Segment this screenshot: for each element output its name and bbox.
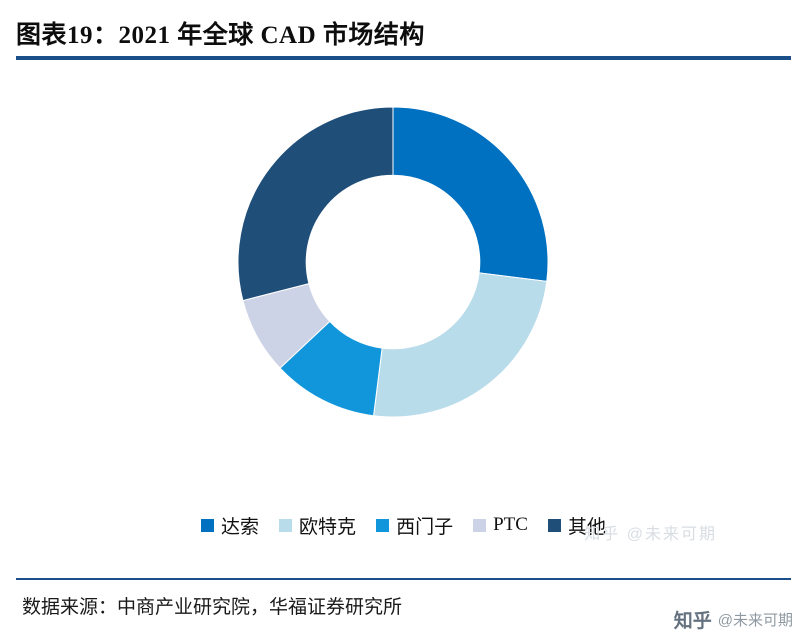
title-divider xyxy=(16,56,791,60)
legend-swatch-others xyxy=(548,519,561,532)
zhihu-username: @未来可期 xyxy=(718,609,793,630)
zhihu-logo: 知乎 xyxy=(674,606,712,633)
page-title: 图表19：2021 年全球 CAD 市场结构 xyxy=(16,12,791,54)
donut-slice-1[interactable] xyxy=(393,107,548,281)
legend-item-autodesk[interactable]: 欧特克 xyxy=(279,512,356,539)
legend-label-dassault: 达索 xyxy=(221,512,259,539)
footer-divider xyxy=(16,578,791,580)
legend-label-autodesk: 欧特克 xyxy=(299,512,356,539)
donut-chart xyxy=(233,102,553,422)
legend-swatch-siemens xyxy=(376,519,389,532)
legend-label-siemens: 西门子 xyxy=(396,512,453,539)
donut-svg xyxy=(233,102,553,422)
donut-slice-5[interactable] xyxy=(238,107,393,301)
chart-page: 图表19：2021 年全球 CAD 市场结构 达索 欧特克 西门子 PTC 其他 xyxy=(0,0,807,643)
chart-area xyxy=(16,62,791,502)
legend-item-dassault[interactable]: 达索 xyxy=(201,512,259,539)
chart-legend: 达索 欧特克 西门子 PTC 其他 xyxy=(16,508,791,542)
legend-swatch-dassault xyxy=(201,519,214,532)
donut-slice-group xyxy=(238,107,548,417)
source-note: 数据来源：中商产业研究院，华福证券研究所 xyxy=(22,592,402,619)
legend-swatch-ptc xyxy=(473,519,486,532)
legend-item-others[interactable]: 其他 xyxy=(548,512,606,539)
zhihu-watermark: 知乎 @未来可期 xyxy=(674,606,793,633)
page-title-text: 图表19：2021 年全球 CAD 市场结构 xyxy=(16,15,425,51)
legend-item-siemens[interactable]: 西门子 xyxy=(376,512,453,539)
legend-item-ptc[interactable]: PTC xyxy=(473,514,528,536)
legend-label-others: 其他 xyxy=(568,512,606,539)
legend-swatch-autodesk xyxy=(279,519,292,532)
legend-label-ptc: PTC xyxy=(493,514,528,536)
donut-slice-2[interactable] xyxy=(374,273,547,417)
